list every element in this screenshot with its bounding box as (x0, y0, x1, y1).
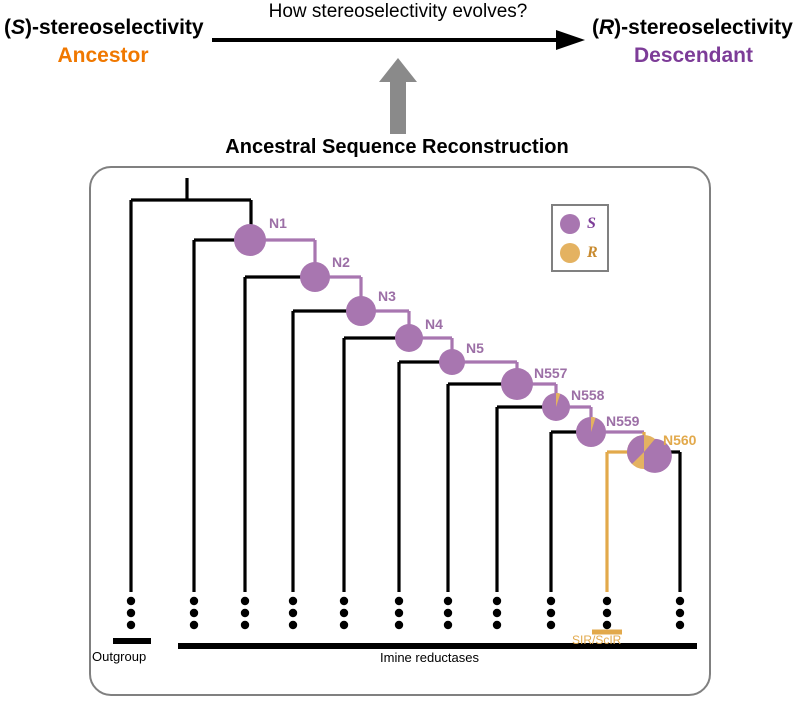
node-label-N560: N560 (663, 432, 696, 448)
node-label-N4: N4 (425, 316, 443, 332)
circle-icon (560, 243, 580, 263)
node-label-N1: N1 (269, 215, 287, 231)
evolution-question-label: How stereoselectivity evolves? (236, 2, 560, 22)
node-label-N5: N5 (466, 340, 484, 356)
circle-icon (560, 214, 580, 234)
ancestor-stereoselectivity-label: (S)-stereoselectivity (4, 17, 204, 39)
legend-label-s: S (587, 215, 596, 233)
node-label-N558: N558 (571, 387, 604, 403)
outgroup-label: Outgroup (92, 649, 146, 664)
legend-item-r: R (560, 243, 598, 263)
descendant-stereo-descriptor: R (599, 16, 614, 39)
asr-caption-label: Ancestral Sequence Reconstruction (184, 137, 610, 158)
legend-item-s: S (560, 214, 596, 234)
node-label-N559: N559 (606, 413, 639, 429)
stereoselectivity-legend: S R (551, 204, 609, 272)
descendant-paren-open: ( (592, 16, 599, 39)
phylogenetic-tree-panel (89, 166, 711, 696)
ancestor-role-label: Ancestor (4, 45, 202, 67)
right-arrow-icon (212, 30, 585, 50)
ancestor-stereo-suffix: )-stereoselectivity (25, 16, 204, 39)
up-arrow-icon (379, 58, 417, 134)
imine-reductases-label: Imine reductases (380, 650, 479, 665)
sir-scir-label: SIR/ScIR (572, 633, 621, 647)
legend-label-r: R (587, 244, 598, 262)
node-label-N3: N3 (378, 288, 396, 304)
descendant-role-label: Descendant (592, 45, 795, 67)
node-label-N557: N557 (534, 365, 567, 381)
figure-root: (S)-stereoselectivity Ancestor (R)-stere… (0, 0, 799, 703)
descendant-stereo-suffix: )-stereoselectivity (614, 16, 793, 39)
descendant-stereoselectivity-label: (R)-stereoselectivity (592, 17, 793, 39)
node-label-N2: N2 (332, 254, 350, 270)
ancestor-stereo-descriptor: S (11, 16, 25, 39)
ancestor-paren-open: ( (4, 16, 11, 39)
